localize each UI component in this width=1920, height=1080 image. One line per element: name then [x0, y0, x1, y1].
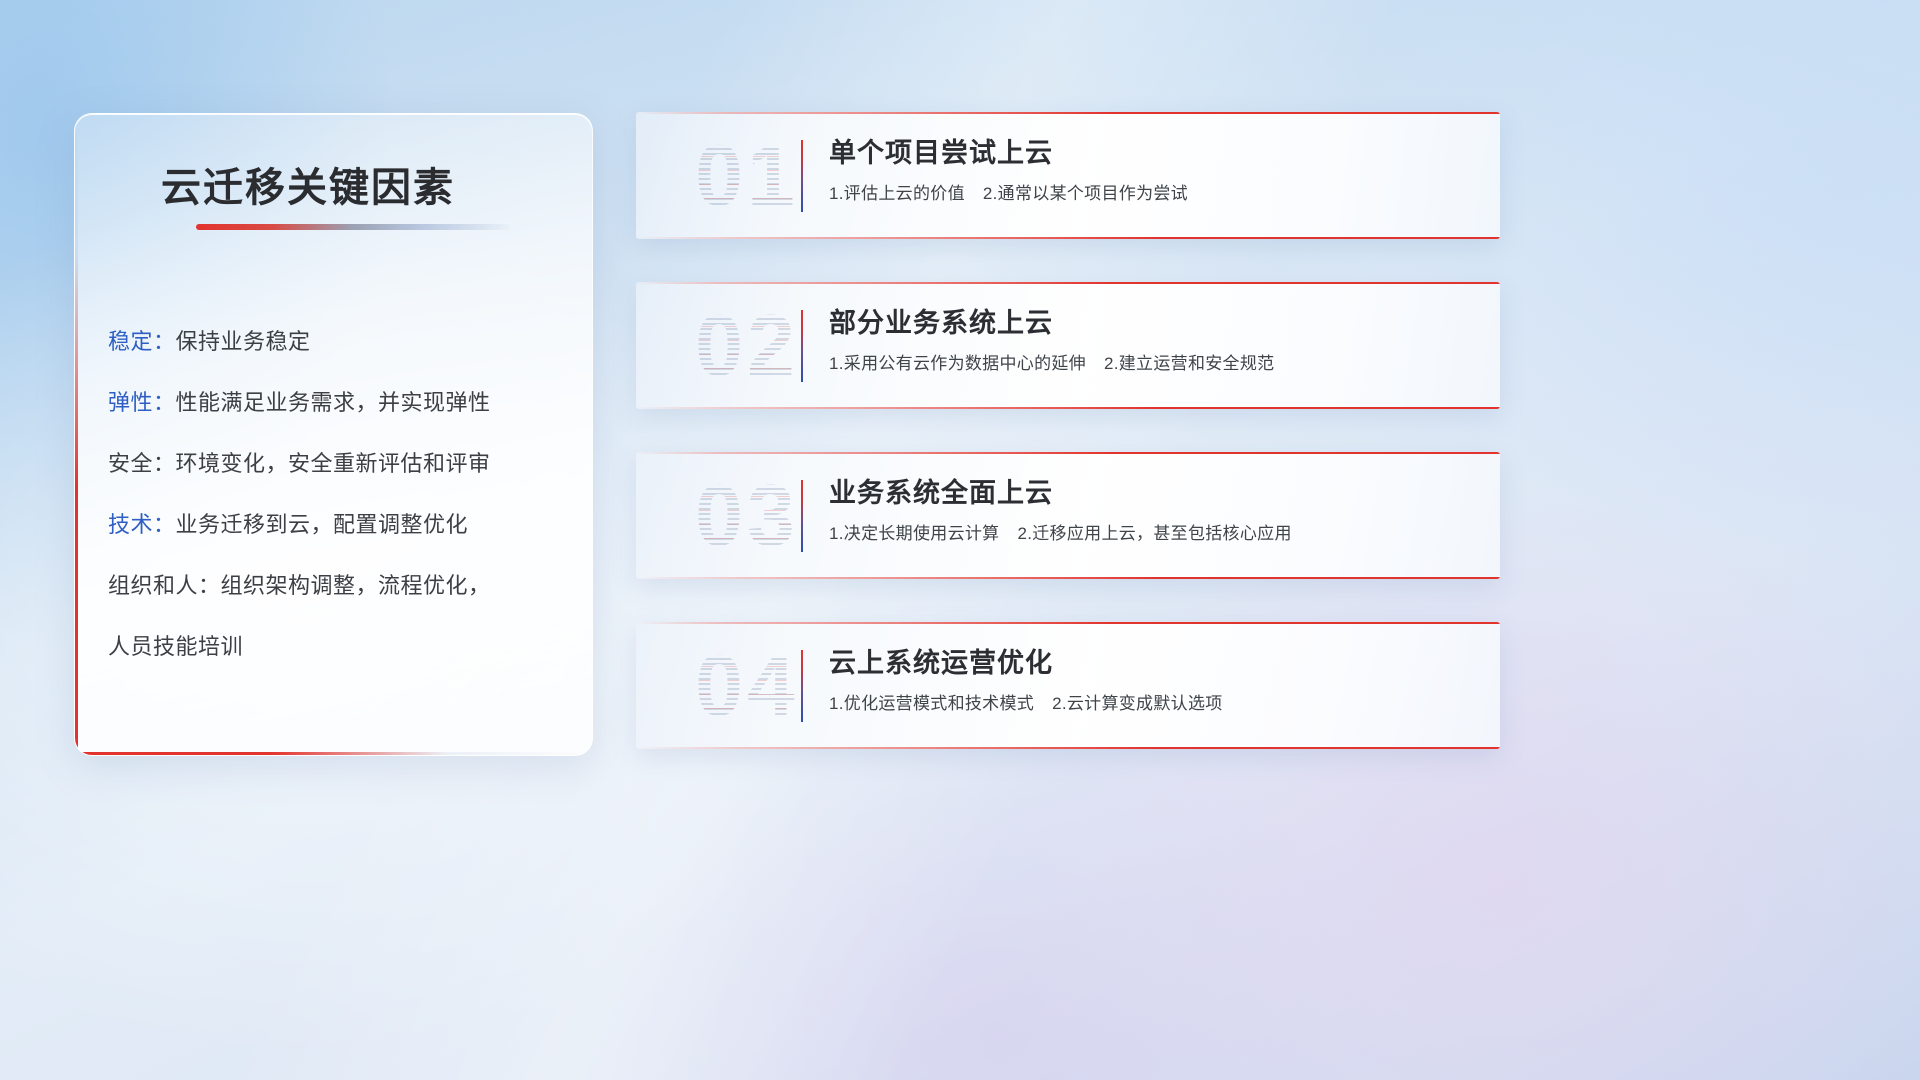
- list-item: 安全：环境变化，安全重新评估和评审: [108, 433, 570, 494]
- step-point-2: 2.迁移应用上云，甚至包括核心应用: [1017, 524, 1291, 543]
- step-number-ghost-tint: 04: [658, 638, 836, 734]
- step-card-02[interactable]: 02 02 部分业务系统上云 1.采用公有云作为数据中心的延伸2.建立运营和安全…: [636, 282, 1500, 409]
- step-title: 云上系统运营优化: [829, 644, 1474, 682]
- step-card-04[interactable]: 04 04 云上系统运营优化 1.优化运营模式和技术模式2.云计算变成默认选项: [636, 622, 1500, 749]
- step-description: 1.优化运营模式和技术模式2.云计算变成默认选项: [829, 691, 1474, 717]
- key-factors-list: 稳定：保持业务稳定 弹性：性能满足业务需求，并实现弹性 安全：环境变化，安全重新…: [108, 311, 570, 677]
- list-item: 技术：业务迁移到云，配置调整优化: [108, 494, 570, 555]
- factor-value: 环境变化，安全重新评估和评审: [176, 451, 491, 476]
- step-number-ghost-tint: 02: [658, 298, 836, 394]
- factor-key: 弹性：: [108, 390, 176, 415]
- step-divider: [801, 310, 803, 382]
- key-factors-panel: 云迁移关键因素 稳定：保持业务稳定 弹性：性能满足业务需求，并实现弹性 安全：环…: [74, 113, 593, 756]
- step-point-2: 2.云计算变成默认选项: [1052, 694, 1222, 713]
- factor-value: 保持业务稳定: [176, 329, 311, 354]
- step-card-01[interactable]: 01 01 单个项目尝试上云 1.评估上云的价值2.通常以某个项目作为尝试: [636, 112, 1500, 239]
- factor-value: 组织架构调整，流程优化，: [221, 573, 491, 598]
- step-point-1: 1.决定长期使用云计算: [829, 524, 999, 543]
- step-divider: [801, 480, 803, 552]
- step-title: 单个项目尝试上云: [829, 134, 1474, 172]
- list-item: 弹性：性能满足业务需求，并实现弹性: [108, 372, 570, 433]
- factor-key: 稳定：: [108, 329, 176, 354]
- step-point-2: 2.通常以某个项目作为尝试: [983, 184, 1188, 203]
- list-item: 稳定：保持业务稳定: [108, 311, 570, 372]
- list-item: 组织和人：组织架构调整，流程优化，: [108, 555, 570, 616]
- step-point-2: 2.建立运营和安全规范: [1104, 354, 1274, 373]
- factor-value: 性能满足业务需求，并实现弹性: [176, 390, 491, 415]
- step-number-ghost-tint: 03: [658, 468, 836, 564]
- step-number-ghost-tint: 01: [658, 128, 836, 224]
- factor-key: 技术：: [108, 512, 176, 537]
- factor-value: 业务迁移到云，配置调整优化: [176, 512, 469, 537]
- title-underline-rule: [196, 224, 510, 230]
- migration-steps-list: 01 01 单个项目尝试上云 1.评估上云的价值2.通常以某个项目作为尝试 02…: [636, 112, 1500, 792]
- step-title: 部分业务系统上云: [829, 304, 1474, 342]
- list-item: 人员技能培训: [108, 616, 570, 677]
- step-body: 部分业务系统上云 1.采用公有云作为数据中心的延伸2.建立运营和安全规范: [829, 304, 1474, 377]
- slide-stage: 云迁移关键因素 稳定：保持业务稳定 弹性：性能满足业务需求，并实现弹性 安全：环…: [0, 0, 1920, 1080]
- step-body: 单个项目尝试上云 1.评估上云的价值2.通常以某个项目作为尝试: [829, 134, 1474, 207]
- step-point-1: 1.评估上云的价值: [829, 184, 965, 203]
- factor-value: 人员技能培训: [108, 634, 243, 659]
- step-body: 云上系统运营优化 1.优化运营模式和技术模式2.云计算变成默认选项: [829, 644, 1474, 717]
- step-card-03[interactable]: 03 03 业务系统全面上云 1.决定长期使用云计算2.迁移应用上云，甚至包括核…: [636, 452, 1500, 579]
- step-divider: [801, 140, 803, 212]
- page-title: 云迁移关键因素: [161, 155, 455, 213]
- step-description: 1.决定长期使用云计算2.迁移应用上云，甚至包括核心应用: [829, 521, 1474, 547]
- step-body: 业务系统全面上云 1.决定长期使用云计算2.迁移应用上云，甚至包括核心应用: [829, 474, 1474, 547]
- factor-key: 组织和人：: [108, 573, 221, 598]
- step-title: 业务系统全面上云: [829, 474, 1474, 512]
- step-description: 1.评估上云的价值2.通常以某个项目作为尝试: [829, 181, 1474, 207]
- factor-key: 安全：: [108, 451, 176, 476]
- step-point-1: 1.采用公有云作为数据中心的延伸: [829, 354, 1086, 373]
- step-divider: [801, 650, 803, 722]
- step-point-1: 1.优化运营模式和技术模式: [829, 694, 1034, 713]
- step-description: 1.采用公有云作为数据中心的延伸2.建立运营和安全规范: [829, 351, 1474, 377]
